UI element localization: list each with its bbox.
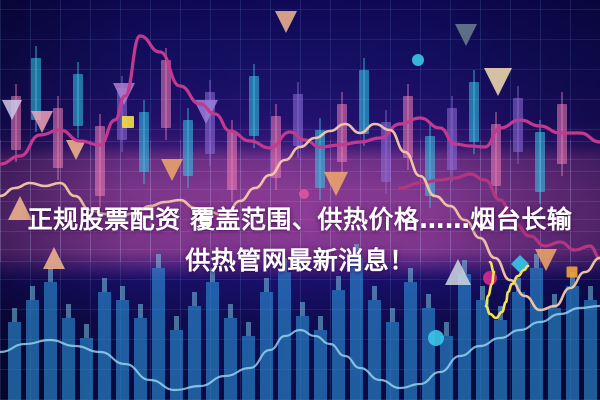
stock-banner-image: 正规股票配资 覆盖范围、供热价格……烟台长输 供热管网最新消息！ <box>0 0 600 400</box>
headline-line-1: 正规股票配资 覆盖范围、供热价格……烟台长输 <box>28 205 573 234</box>
headline-line-2: 供热管网最新消息！ <box>0 240 600 281</box>
page-title: 正规股票配资 覆盖范围、供热价格……烟台长输 供热管网最新消息！ <box>0 158 600 322</box>
